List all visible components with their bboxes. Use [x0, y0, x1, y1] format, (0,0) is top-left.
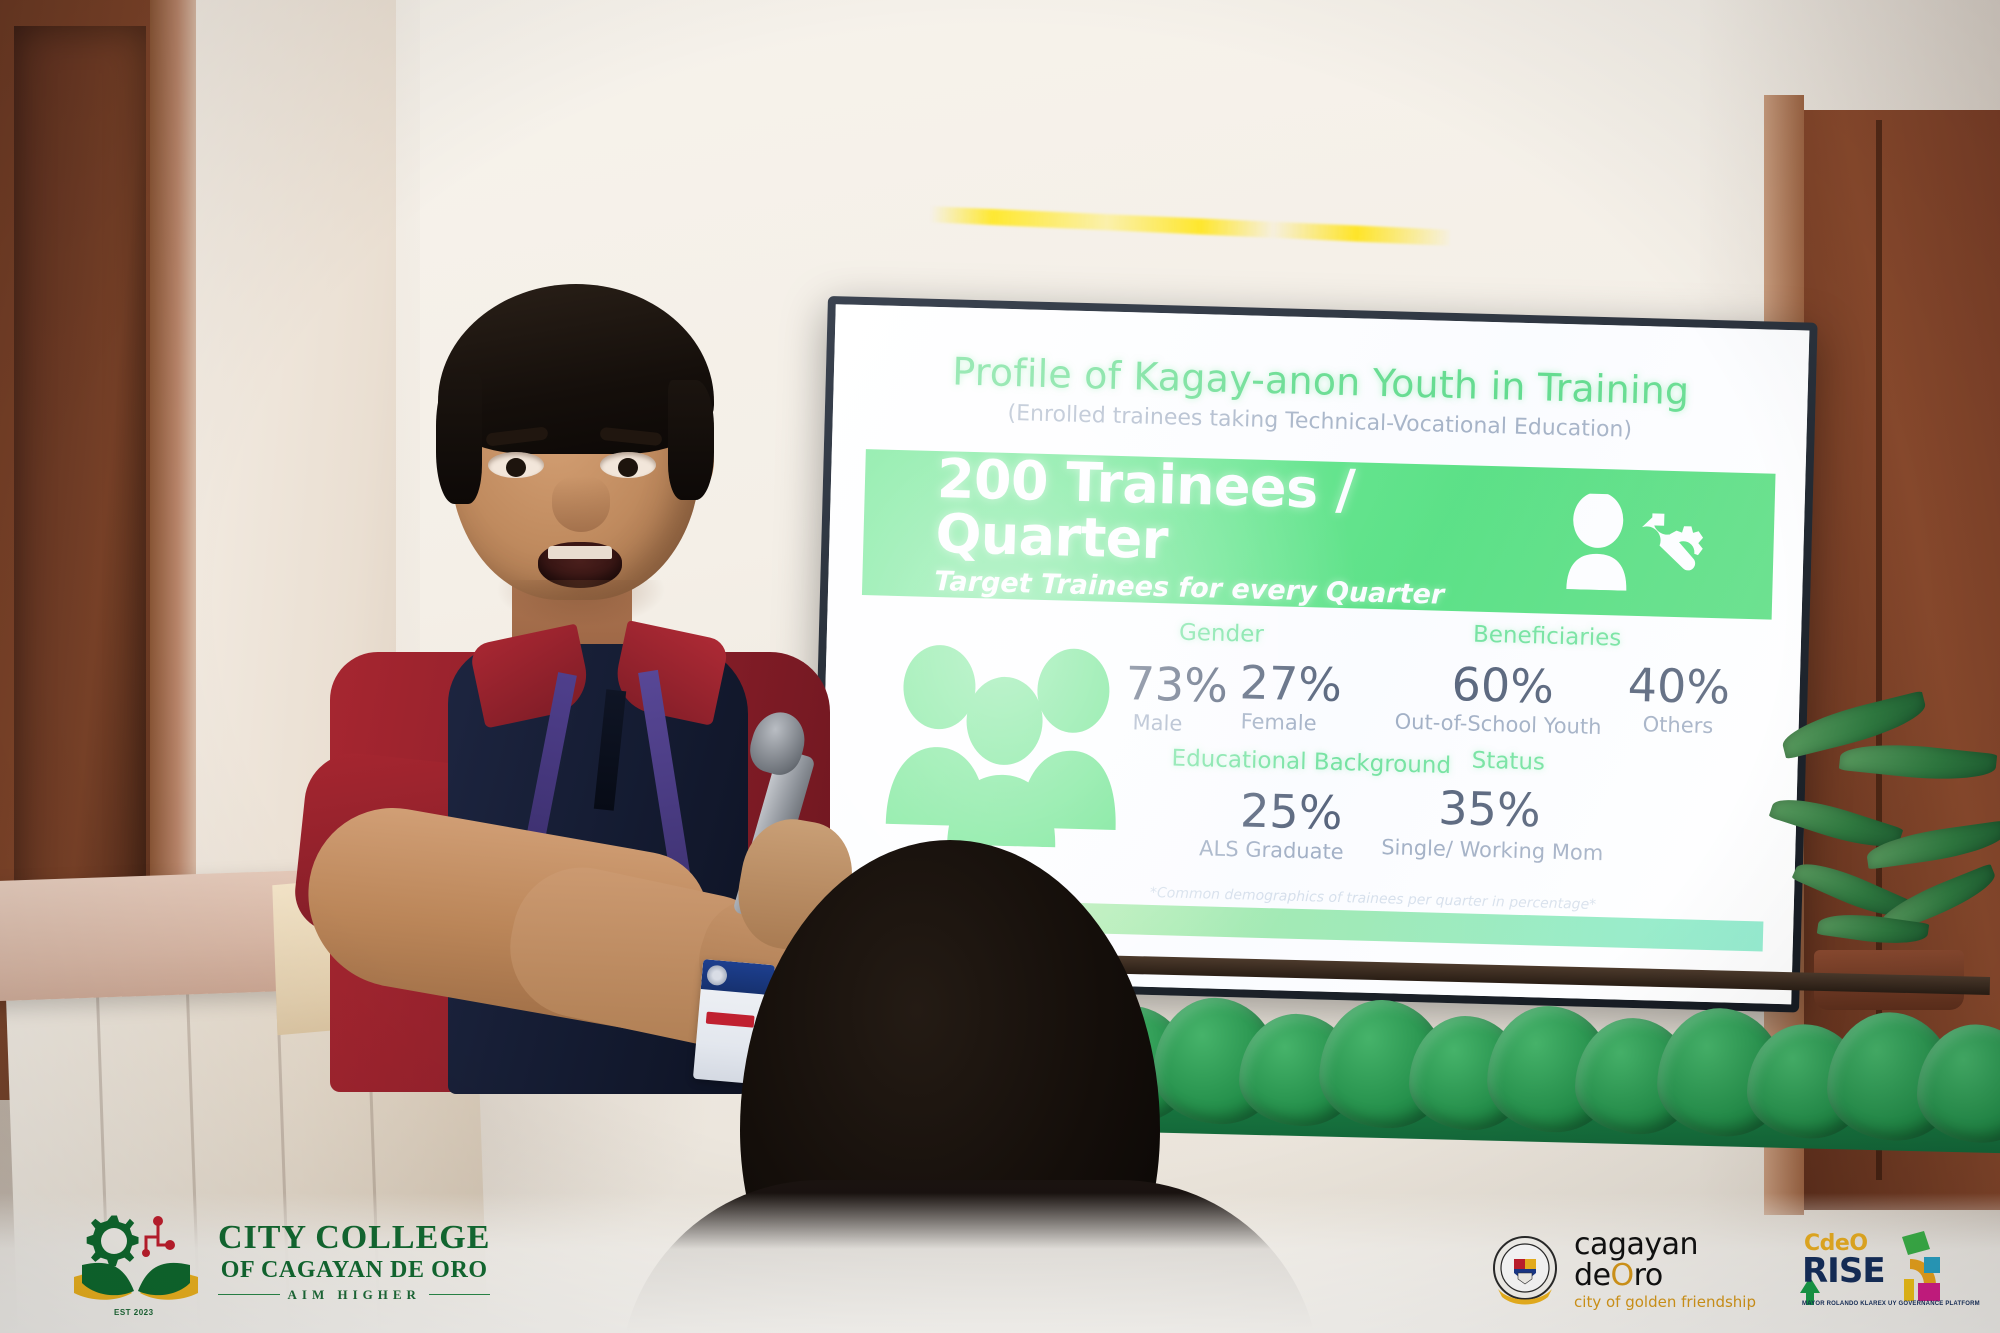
speaker-nose: [552, 476, 610, 532]
cdo-line2-o: O: [1611, 1258, 1634, 1293]
badge-seal-icon: [706, 965, 728, 987]
cdeo-rise-logo: CdeO RISE MAYOR ROLANDO KLAREX UY GOVERN…: [1798, 1229, 1948, 1311]
stat-caption-others: Others: [1642, 712, 1713, 738]
cdo-line2-ro: ro: [1634, 1258, 1663, 1293]
target-banner: 200 Trainees / Quarter Target Trainees f…: [862, 449, 1776, 620]
stat-value-als: 25%: [1240, 783, 1344, 840]
speaker-eye-right: [600, 452, 656, 478]
banner-headline: 200 Trainees / Quarter: [935, 451, 1566, 578]
banner-text-block: 200 Trainees / Quarter Target Trainees f…: [934, 451, 1566, 614]
college-name-line2: OF CAGAYAN DE ORO: [218, 1258, 490, 1282]
college-est-text: EST 2023: [114, 1308, 154, 1317]
stat-value-female: 27%: [1239, 655, 1343, 712]
cdo-line2: deOro: [1574, 1261, 1756, 1291]
stat-label-education: Educational Background: [1171, 745, 1451, 779]
college-tagline-rule: AIM HIGHER: [218, 1288, 490, 1301]
logo-band: EST 2023 CITY COLLEGE OF CAGAYAN DE ORO …: [0, 1193, 2000, 1333]
cagayan-de-oro-wordmark: cagayan deOro city of golden friendship: [1574, 1230, 1756, 1310]
college-tagline: AIM HIGHER: [288, 1288, 421, 1301]
cdo-line1: cagayan: [1574, 1230, 1756, 1260]
rise-tagline: MAYOR ROLANDO KLAREX UY GOVERNANCE PLATF…: [1802, 1301, 1980, 1307]
badge-header: [701, 959, 775, 995]
stat-value-male: 73%: [1125, 656, 1229, 713]
cdo-line2-de: de: [1574, 1258, 1611, 1293]
person-with-gear-icon: [1562, 493, 1717, 593]
speaker-hair-left: [436, 374, 482, 504]
stat-label-status: Status: [1471, 748, 1545, 776]
stat-value-others: 40%: [1627, 658, 1731, 715]
potted-plant: [1770, 690, 2000, 1010]
green-table-skirting: [1078, 951, 2000, 1144]
speaker-eye-left: [488, 452, 544, 478]
stat-value-singlemom: 35%: [1438, 781, 1542, 838]
partner-logos: cagayan deOro city of golden friendship …: [1488, 1229, 1948, 1311]
college-name-line1: CITY COLLEGE: [218, 1221, 490, 1255]
stat-caption-singlemom: Single/ Working Mom: [1381, 835, 1604, 865]
badge-name-strip: [706, 1012, 755, 1028]
cdo-tagline: city of golden friendship: [1574, 1295, 1756, 1310]
rise-wordmark: RISE: [1802, 1251, 1885, 1291]
cagayan-de-oro-city-seal-icon: [1488, 1233, 1562, 1307]
gear-book-emblem-icon: EST 2023: [72, 1207, 200, 1315]
stat-label-beneficiaries: Beneficiaries: [1473, 622, 1622, 652]
speaker-hair-right: [668, 380, 714, 500]
stat-value-osy: 60%: [1451, 657, 1555, 714]
cagayan-de-oro-logo: cagayan deOro city of golden friendship: [1488, 1230, 1756, 1310]
speaker-chin-shadow: [496, 580, 666, 628]
stat-caption-osy: Out-of-School Youth: [1394, 709, 1601, 739]
stat-caption-als: ALS Graduate: [1199, 836, 1344, 864]
stat-caption-male: Male: [1132, 710, 1182, 735]
city-college-logo: EST 2023 CITY COLLEGE OF CAGAYAN DE ORO …: [72, 1207, 490, 1315]
city-college-wordmark: CITY COLLEGE OF CAGAYAN DE ORO AIM HIGHE…: [218, 1221, 490, 1301]
presentation-photo: Profile of Kagay-anon Youth in Training …: [0, 0, 2000, 1333]
stat-caption-female: Female: [1240, 709, 1317, 735]
stat-label-gender: Gender: [1179, 620, 1264, 648]
